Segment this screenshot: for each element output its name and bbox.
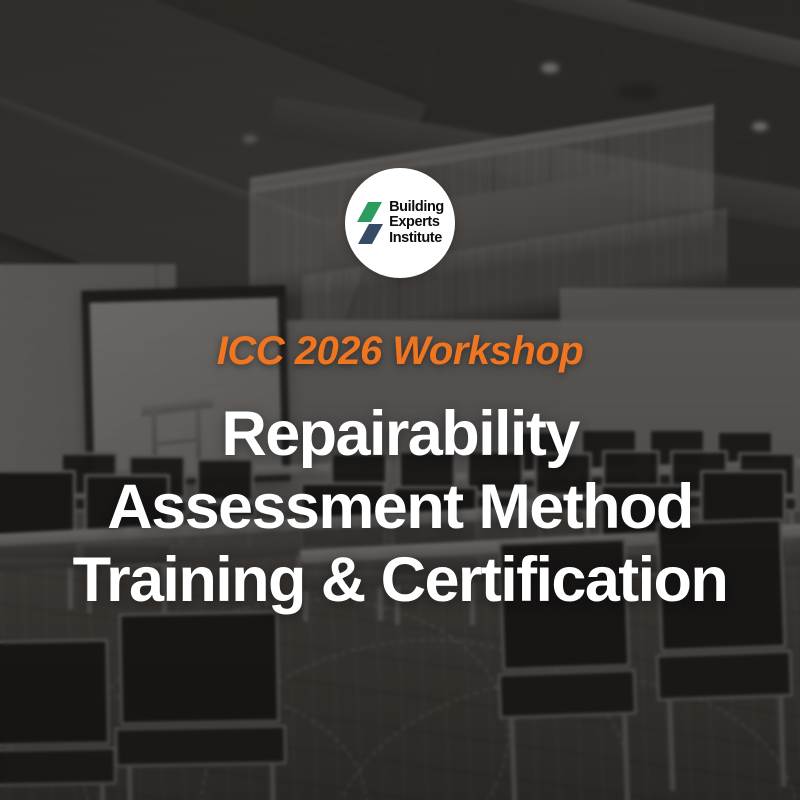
logo-wordmark: Building Experts Institute <box>389 200 444 246</box>
headline-line-3: Training & Certification <box>18 544 782 617</box>
building-experts-institute-mark-icon <box>356 200 384 246</box>
promo-card: Building Experts Institute ICC 2026 Work… <box>0 0 800 800</box>
headline-line-2: Assessment Method <box>18 471 782 544</box>
eyebrow-text: ICC 2026 Workshop <box>0 329 800 374</box>
logo-badge: Building Experts Institute <box>345 168 455 278</box>
logo-line-1: Building <box>389 200 444 215</box>
logo-line-2: Experts <box>389 215 444 230</box>
page-title: Repairability Assessment Method Training… <box>0 398 800 617</box>
card-content: Building Experts Institute ICC 2026 Work… <box>0 0 800 800</box>
logo-line-3: Institute <box>389 231 444 246</box>
headline-line-1: Repairability <box>18 398 782 471</box>
